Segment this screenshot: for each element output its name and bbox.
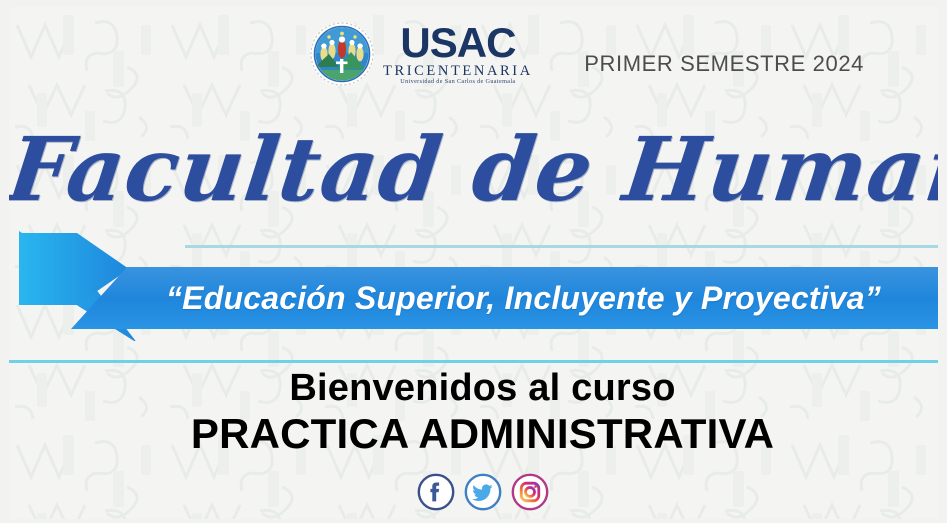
presentation-slide: USAC TRICENTENARIA Universidad de San Ca… (0, 0, 947, 523)
slogan-banner: “Educación Superior, Incluyente y Proyec… (71, 267, 938, 329)
twitter-icon[interactable] (464, 473, 502, 511)
usac-university-name: Universidad de San Carlos de Guatemala (400, 79, 515, 85)
slide-frame: USAC TRICENTENARIA Universidad de San Ca… (9, 7, 938, 519)
semester-label: PRIMER SEMESTRE 2024 (584, 51, 864, 77)
faculty-title: Facultad de Humanidades (9, 125, 938, 213)
title-underline (185, 245, 938, 248)
social-links (9, 473, 938, 511)
facebook-icon[interactable] (417, 473, 455, 511)
usac-logo: USAC TRICENTENARIA Universidad de San Ca… (309, 21, 533, 87)
usac-tagline: TRICENTENARIA (383, 64, 533, 79)
course-name: PRACTICA ADMINISTRATIVA (9, 411, 938, 457)
welcome-line-1: Bienvenidos al curso (9, 367, 938, 411)
usac-seal-icon (309, 21, 375, 87)
welcome-block: Bienvenidos al curso PRACTICA ADMINISTRA… (9, 367, 938, 457)
usac-wordmark-text: USAC (400, 23, 515, 63)
slogan-text: “Educación Superior, Incluyente y Proyec… (146, 280, 881, 317)
usac-wordmark: USAC TRICENTENARIA Universidad de San Ca… (383, 23, 533, 86)
instagram-icon[interactable] (511, 473, 549, 511)
welcome-divider (9, 360, 938, 363)
